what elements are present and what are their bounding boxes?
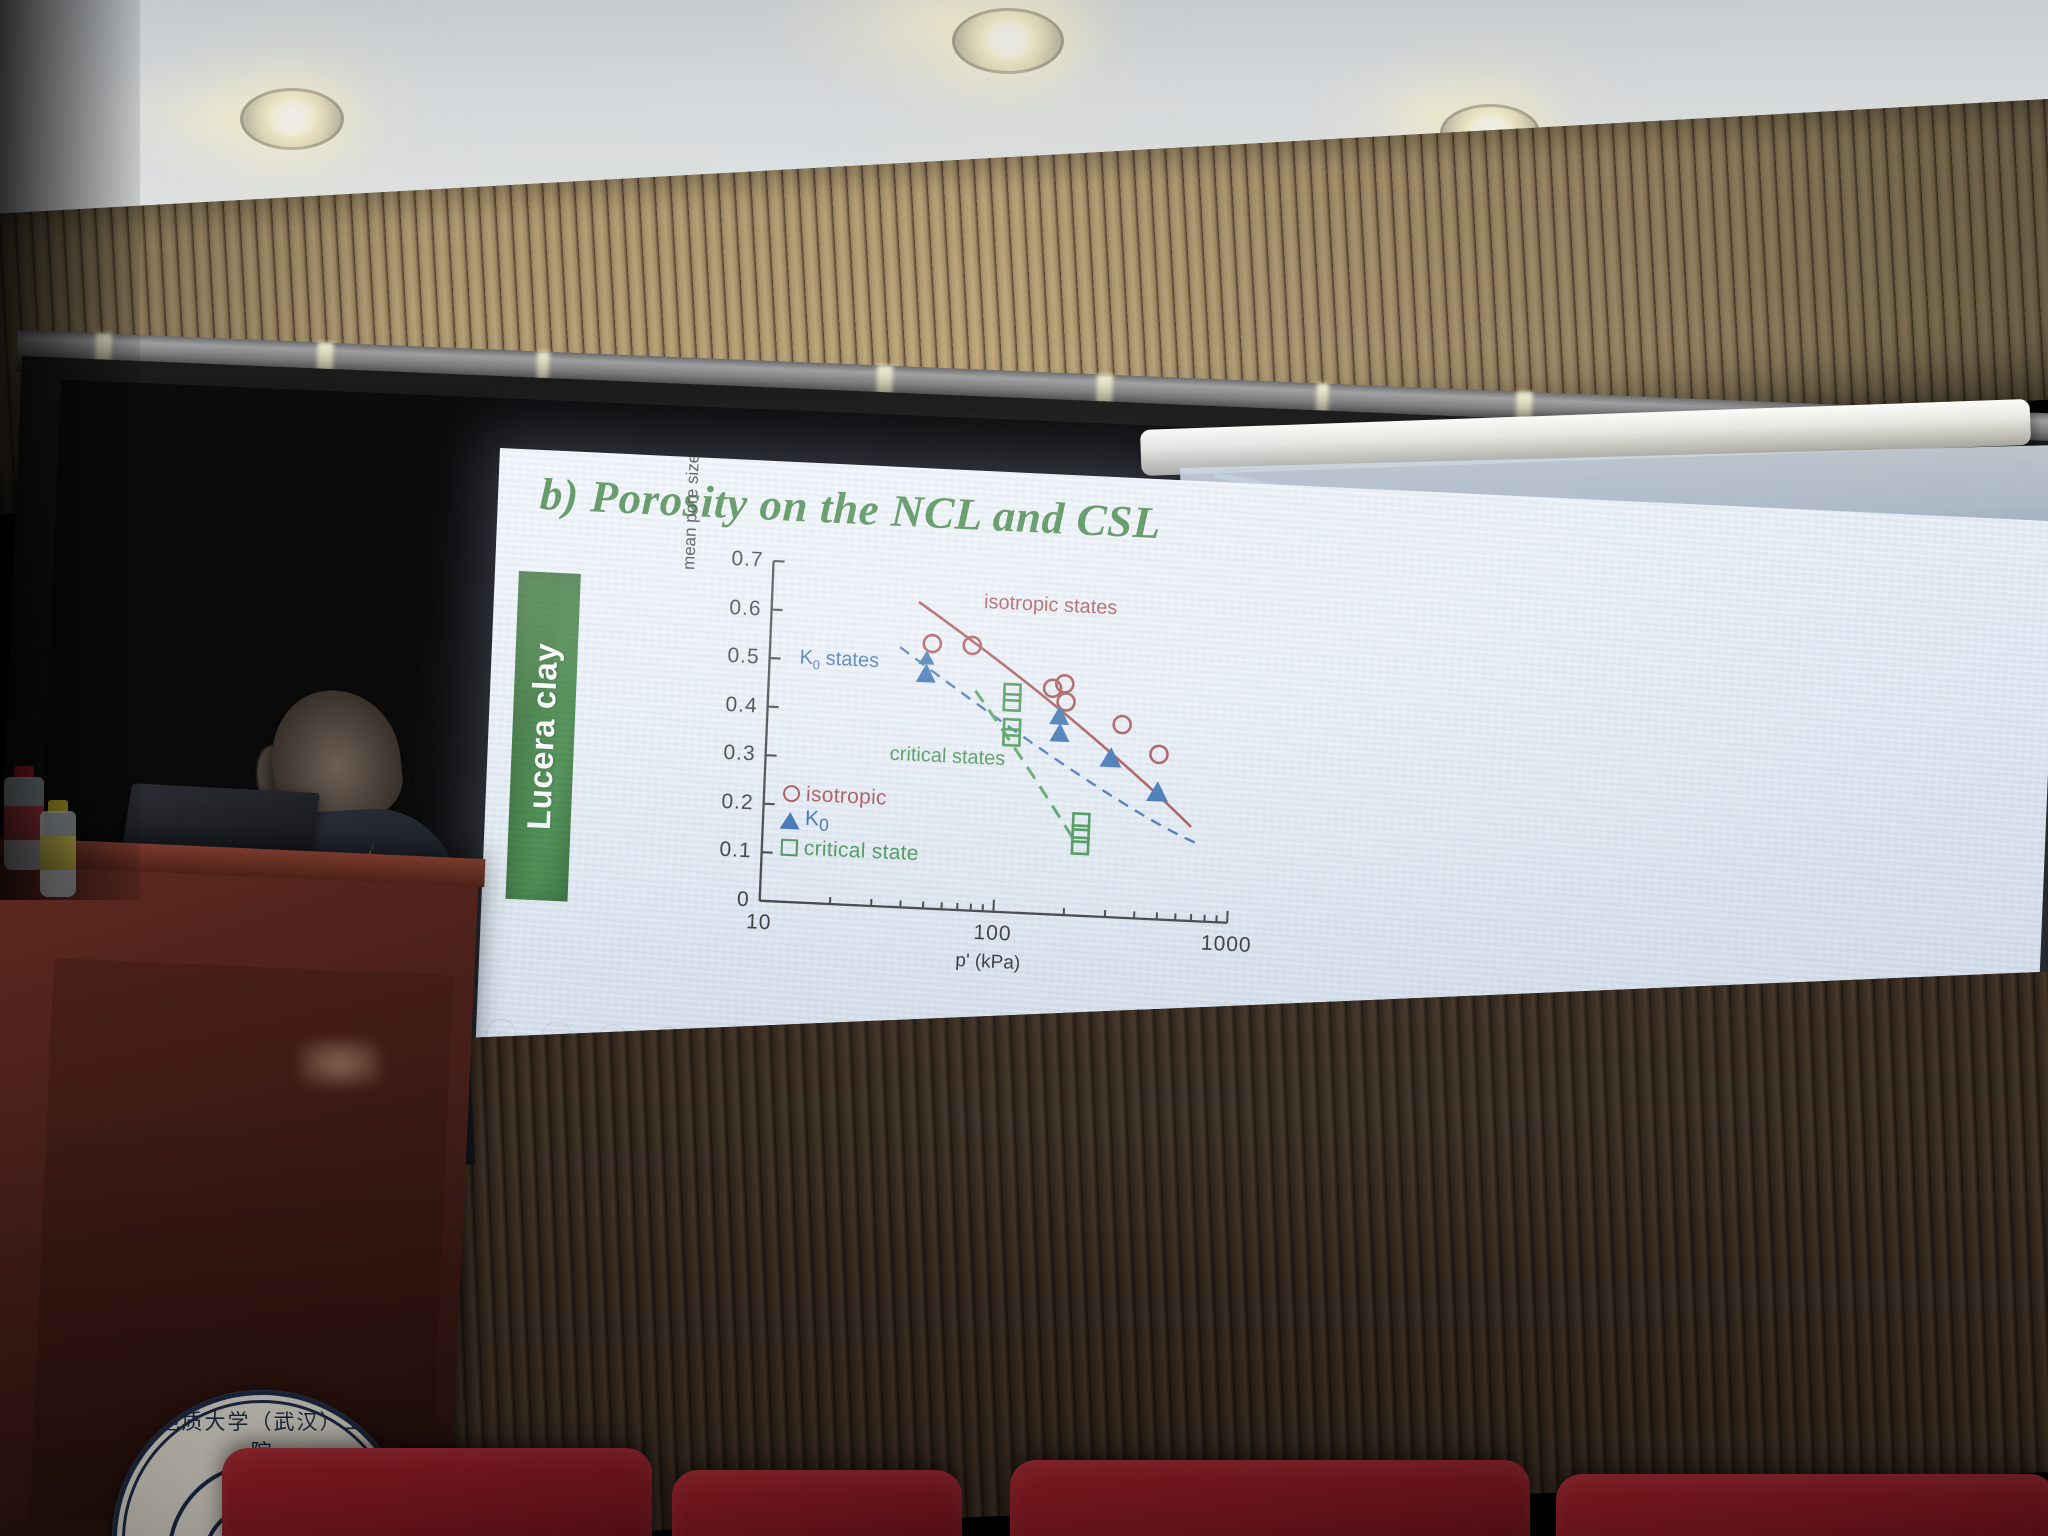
auditorium-chair	[1010, 1460, 1530, 1536]
chart-area: mean pore size (microns) 0.7 0.6 0.5 0.4…	[669, 557, 1265, 984]
lecture-hall-photo: Three... b) Porosity on the NCL and CSL …	[0, 0, 2048, 1536]
legend-label: K0	[804, 807, 829, 836]
slide-title: b) Porosity on the NCL and CSL	[539, 468, 1162, 549]
auditorium-chair	[672, 1470, 962, 1536]
auditorium-chair	[1556, 1474, 2048, 1536]
ceiling-spotlight	[952, 8, 1064, 74]
legend-label: isotropic	[806, 782, 888, 810]
filled-triangle-icon	[775, 811, 806, 829]
x-tick-label: 1000	[1200, 932, 1252, 958]
open-square-icon	[774, 838, 805, 856]
open-circle-icon	[776, 784, 807, 802]
side-banner-label: Lucera clay	[520, 642, 566, 831]
x-tick-label: 10	[746, 910, 772, 935]
podium-light-reflection	[300, 1040, 380, 1086]
chart-x-axis-label: p' (kPa)	[955, 950, 1021, 975]
side-banner: Lucera clay	[506, 571, 581, 902]
auditorium-chair	[222, 1448, 652, 1536]
water-bottle	[4, 766, 44, 870]
chart-legend: isotropic K0 critical state	[773, 779, 921, 867]
x-tick-label: 100	[973, 921, 1012, 947]
water-bottle	[40, 800, 76, 896]
legend-label: critical state	[803, 836, 919, 865]
annotation-k0-states: K0 states	[799, 646, 879, 675]
ceiling-spotlight	[240, 88, 344, 150]
